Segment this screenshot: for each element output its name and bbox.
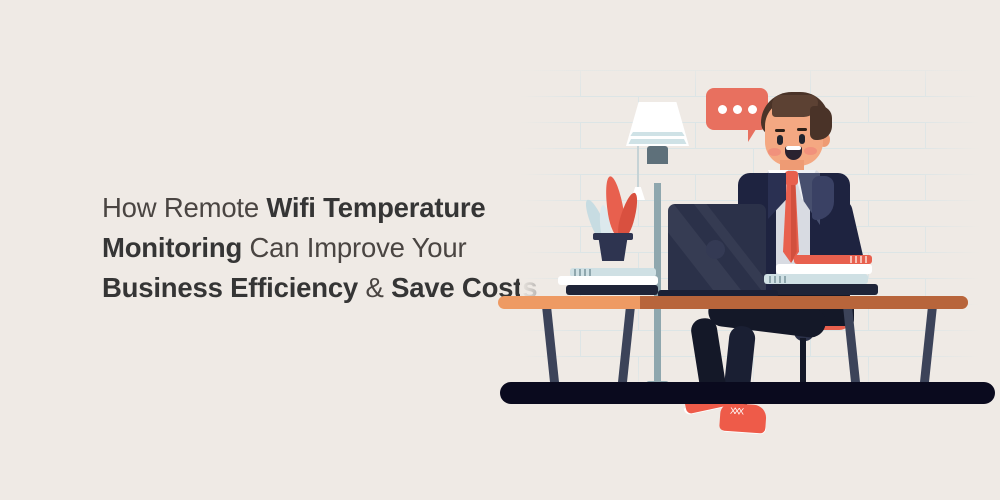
book	[794, 255, 872, 264]
speech-bubble-icon	[706, 88, 768, 130]
headline-line-1: How Remote Wifi Temperature	[102, 188, 522, 228]
book	[566, 285, 658, 295]
book-spiral-icon	[850, 256, 868, 263]
eye	[799, 134, 805, 144]
cheek-blush	[768, 148, 781, 156]
laptop-logo-icon	[706, 240, 725, 259]
lamp-stripe	[626, 132, 689, 136]
eye	[777, 135, 783, 145]
headline-text-bold-2: Monitoring	[102, 232, 242, 263]
book-spiral-icon	[574, 269, 592, 276]
lamp-neck	[647, 146, 668, 164]
speech-bubble-dot	[733, 105, 742, 114]
teeth	[786, 146, 801, 150]
speech-bubble-dot	[718, 105, 727, 114]
sneaker	[719, 402, 767, 433]
desk-surface-shadow	[640, 296, 968, 309]
headline-ampersand: &	[358, 272, 391, 303]
hair-side	[810, 106, 832, 140]
book	[772, 284, 878, 295]
businessman-at-desk-illustration: XXX XXX	[480, 40, 1000, 420]
lamp-pull-cord	[637, 146, 639, 189]
necktie-knot	[785, 171, 798, 185]
lamp-stripe	[626, 139, 689, 144]
page-title: How Remote Wifi Temperature Monitoring C…	[102, 188, 522, 308]
book-spiral-icon	[769, 276, 789, 283]
book	[558, 276, 658, 285]
eyebrow	[775, 129, 785, 132]
headline-text-bold-1: Wifi Temperature	[266, 192, 485, 223]
eyebrow	[797, 128, 807, 131]
cheek-blush	[804, 147, 817, 155]
book	[764, 274, 868, 284]
plant-pot-rim	[593, 233, 633, 240]
headline-line-2: Monitoring Can Improve Your	[102, 228, 522, 268]
floor-strip	[500, 382, 995, 404]
book	[776, 264, 872, 274]
speech-bubble-dot	[748, 105, 757, 114]
speech-bubble-tail	[748, 126, 758, 142]
headline-line-3: Business Efficiency & Save Costs	[102, 268, 522, 308]
headline-text-light-2: Can Improve Your	[242, 232, 466, 263]
headline-text-light-1: How Remote	[102, 192, 266, 223]
blog-header-banner: How Remote Wifi Temperature Monitoring C…	[0, 0, 1000, 500]
shoe-laces: XXX	[730, 408, 742, 416]
laptop-screen	[668, 204, 766, 292]
headline-text-bold-3: Business Efficiency	[102, 272, 358, 303]
